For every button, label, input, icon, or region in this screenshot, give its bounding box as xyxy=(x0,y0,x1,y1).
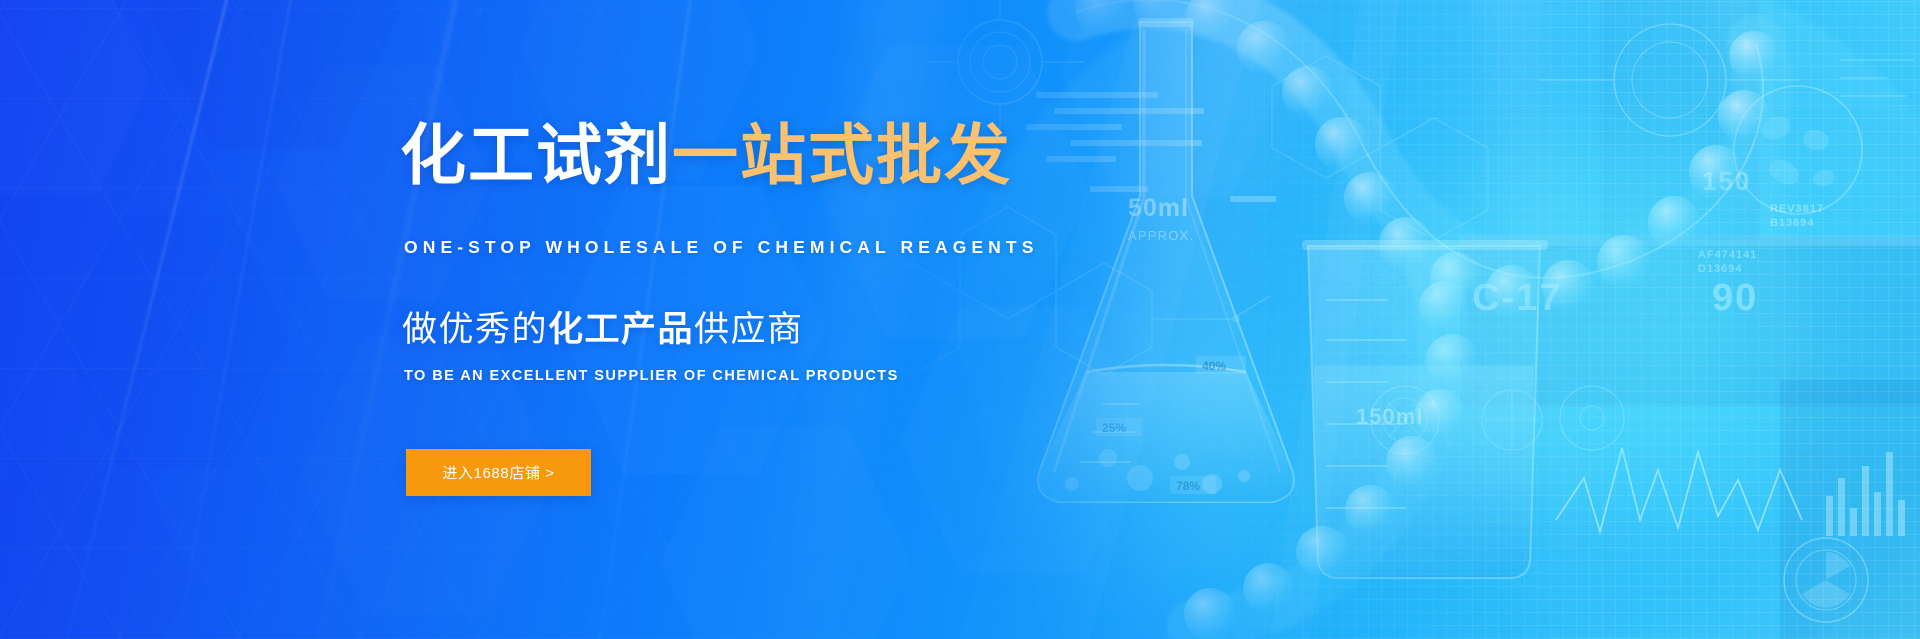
svg-text:150ml: 150ml xyxy=(1356,404,1423,429)
page-title: 化工试剂一站式批发 xyxy=(400,122,1012,188)
hero-banner: 50ml 50ml APPROX. 150ml 4 xyxy=(0,0,1920,639)
svg-text:B13694: B13694 xyxy=(1770,217,1815,229)
tagline-prefix: 做优秀的 xyxy=(402,310,548,349)
svg-text:REV3817: REV3817 xyxy=(1770,203,1824,215)
tagline-suffix: 供应商 xyxy=(694,310,804,349)
banner-content: 化工试剂一站式批发 ONE-STOP WHOLESALE OF CHEMICAL… xyxy=(400,0,1220,639)
headline-primary-text: 化工试剂 xyxy=(400,118,672,192)
subtitle-english-primary: ONE-STOP WHOLESALE OF CHEMICAL REAGENTS xyxy=(404,237,1039,258)
svg-text:150: 150 xyxy=(1702,166,1751,196)
subtitle-english-secondary: TO BE AN EXCELLENT SUPPLIER OF CHEMICAL … xyxy=(404,368,899,384)
svg-text:C-17: C-17 xyxy=(1472,277,1562,319)
secondary-tagline: 做优秀的化工产品供应商 xyxy=(402,312,804,347)
svg-text:D13694: D13694 xyxy=(1698,263,1743,275)
technical-grid-overlay xyxy=(1160,0,1920,639)
enter-1688-shop-button[interactable]: 进入1688店铺 > xyxy=(406,449,591,496)
cyan-glow-right xyxy=(1360,150,1780,510)
tagline-highlight: 化工产品 xyxy=(548,310,694,349)
headline-accent-text: 一站式批发 xyxy=(672,118,1012,192)
svg-text:90: 90 xyxy=(1712,277,1758,319)
svg-text:AF474141: AF474141 xyxy=(1698,249,1757,261)
